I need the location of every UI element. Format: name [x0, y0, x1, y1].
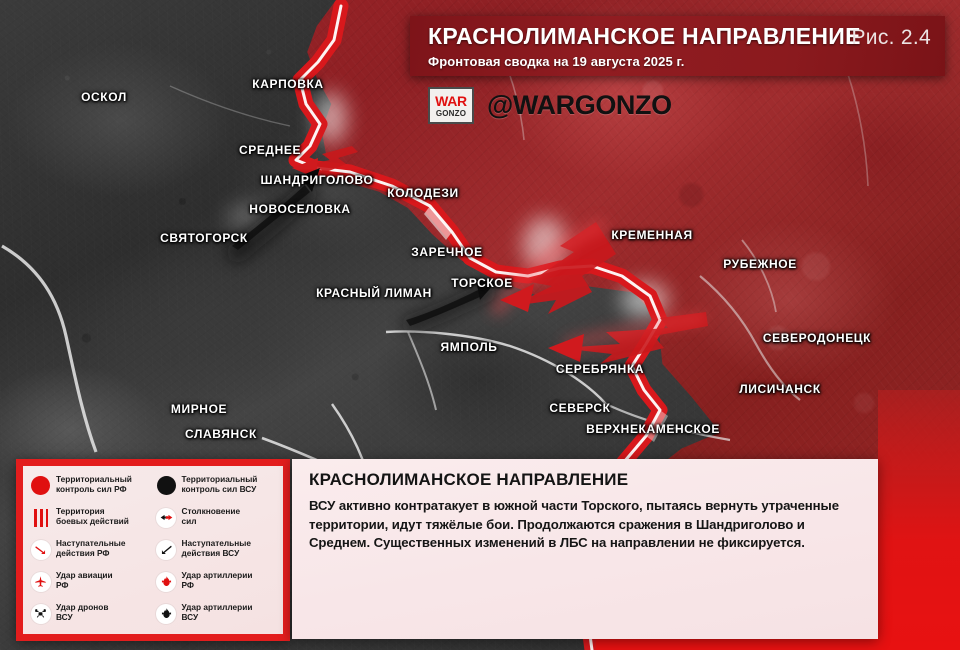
- red-artillery-flame-icon: [156, 571, 177, 592]
- black-artillery-flame-icon: [156, 603, 177, 624]
- legend-panel: Территориальныйконтроль сил РФТерриториа…: [16, 459, 290, 641]
- red-filled-circle-icon: [30, 475, 51, 496]
- wargonzo-logo-icon: WAR GONZO: [428, 87, 474, 124]
- social-handle: @WARGONZO: [487, 90, 672, 121]
- legend-item-label: Территориальныйконтроль сил РФ: [56, 474, 132, 495]
- legend-item: Удар авиацииРФ: [30, 570, 153, 602]
- legend-item: Наступательныедействия ВСУ: [156, 538, 279, 570]
- description-panel: КРАСНОЛИМАНСКОЕ НАПРАВЛЕНИЕ ВСУ активно …: [292, 459, 878, 639]
- legend-item-label: Столкновениесил: [182, 506, 241, 527]
- legend-item: Территориябоевых действий: [30, 506, 153, 538]
- black-filled-circle-icon: [156, 475, 177, 496]
- red-hatch-stripes-icon: [30, 507, 51, 528]
- red-airplane-icon: [30, 571, 51, 592]
- legend-item-label: Удар артиллерииВСУ: [182, 602, 253, 623]
- legend-item: Удар артиллерииРФ: [156, 570, 279, 602]
- legend-item-label: Удар дроновВСУ: [56, 602, 108, 623]
- legend-item: Территориальныйконтроль сил РФ: [30, 474, 153, 506]
- legend-item-label: Территориябоевых действий: [56, 506, 129, 527]
- figure-number: Рис. 2.4: [852, 26, 932, 50]
- legend-item: Удар артиллерииВСУ: [156, 602, 279, 634]
- red-attack-arrow-icon: [30, 539, 51, 560]
- description-body: ВСУ активно контратакует в южной части Т…: [309, 497, 862, 553]
- branding: WAR GONZO @WARGONZO: [428, 87, 672, 124]
- legend-item-label: Наступательныедействия РФ: [56, 538, 126, 559]
- legend-item-label: Удар авиацииРФ: [56, 570, 113, 591]
- legend-item: Наступательныедействия РФ: [30, 538, 153, 570]
- legend-item-label: Наступательныедействия ВСУ: [182, 538, 252, 559]
- logo-gonzo-text: GONZO: [436, 110, 466, 118]
- title-subtitle: Фронтовая сводка на 19 августа 2025 г.: [428, 54, 684, 69]
- title-bar: КРАСНОЛИМАНСКОЕ НАПРАВЛЕНИЕ Рис. 2.4 Фро…: [410, 16, 945, 76]
- black-attack-arrow-icon: [156, 539, 177, 560]
- map-infographic: ОСКОЛКАРПОВКАСРЕДНЕЕШАНДРИГОЛОВОНОВОСЕЛО…: [0, 0, 960, 650]
- legend-item-label: Удар артиллерииРФ: [182, 570, 253, 591]
- clash-arrows-icon: [156, 507, 177, 528]
- description-title: КРАСНОЛИМАНСКОЕ НАПРАВЛЕНИЕ: [309, 470, 862, 490]
- black-drone-icon: [30, 603, 51, 624]
- page-title: КРАСНОЛИМАНСКОЕ НАПРАВЛЕНИЕ: [428, 23, 861, 50]
- legend-item-label: Территориальныйконтроль сил ВСУ: [182, 474, 258, 495]
- legend-items: Территориальныйконтроль сил РФТерриториа…: [23, 466, 283, 634]
- legend-item: Столкновениесил: [156, 506, 279, 538]
- legend-item: Территориальныйконтроль сил ВСУ: [156, 474, 279, 506]
- logo-war-text: WAR: [435, 94, 467, 108]
- legend-item: Удар дроновВСУ: [30, 602, 153, 634]
